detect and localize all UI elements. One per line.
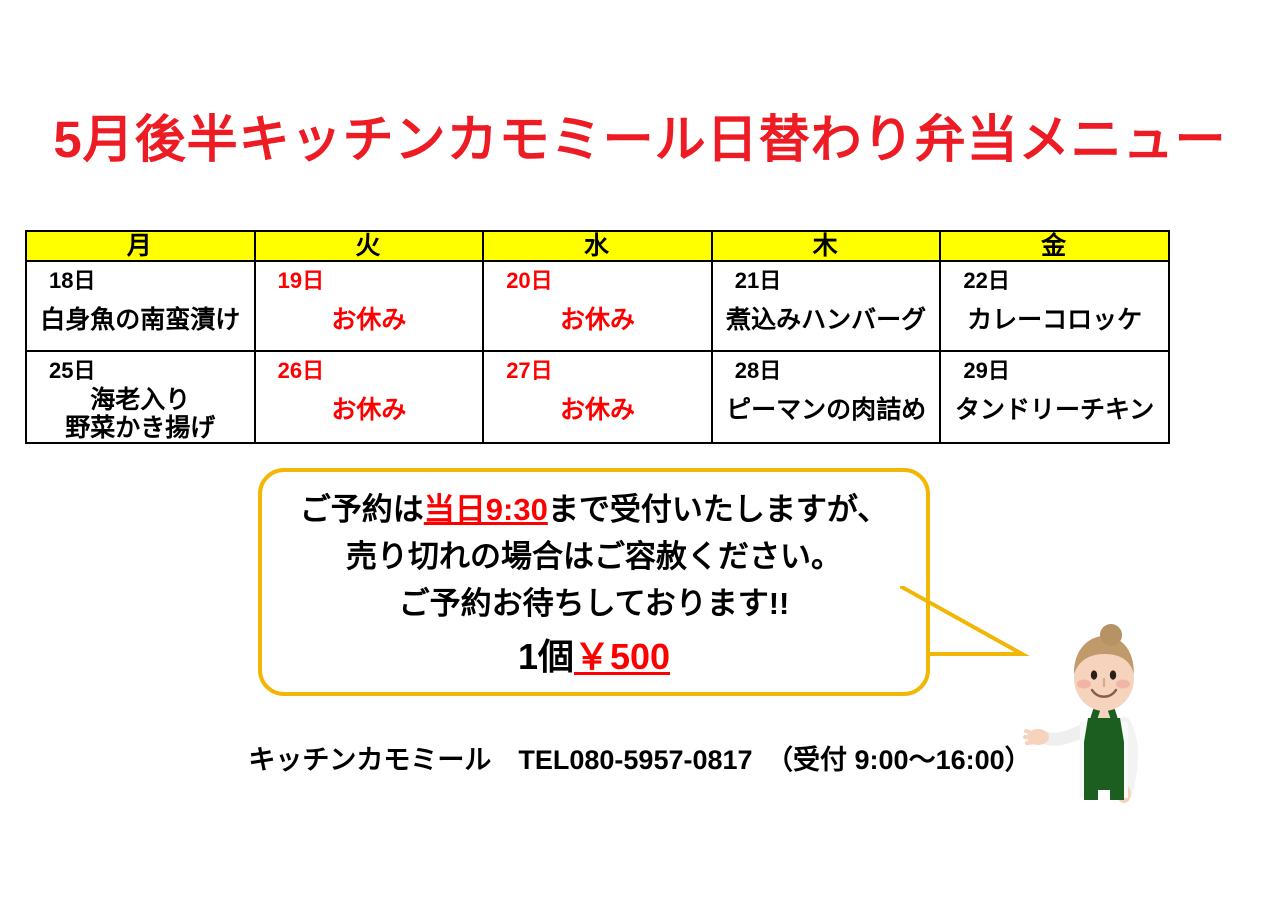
waving-staff-woman-icon — [1012, 618, 1212, 848]
day-number: 19日 — [256, 262, 483, 292]
day-number: 27日 — [484, 352, 711, 382]
dish-name: 白身魚の南蛮漬け — [27, 292, 254, 334]
column-header-thursday: 木 — [712, 231, 941, 261]
dish-name-line1: 海老入り — [27, 386, 254, 414]
price-prefix: 1個 — [518, 636, 574, 677]
day-number: 21日 — [713, 262, 940, 292]
dish-name-line2: 野菜かき揚げ — [27, 414, 254, 442]
menu-cell-29: 29日 タンドリーチキン — [940, 351, 1169, 443]
day-number: 28日 — [713, 352, 940, 382]
price-amount: ￥500 — [574, 636, 670, 677]
closed-label: お休み — [256, 292, 483, 334]
day-number: 25日 — [27, 352, 254, 382]
waving-hand — [1025, 729, 1049, 745]
closed-label: お休み — [484, 382, 711, 424]
eye-left — [1091, 670, 1097, 679]
bubble-text-block: ご予約は当日9:30まで受付いたしますが、 売り切れの場合はご容赦ください。 ご… — [262, 486, 926, 684]
closed-label: お休み — [484, 292, 711, 334]
table-header-row: 月 火 水 木 金 — [26, 231, 1169, 261]
dish-name: ピーマンの肉詰め — [713, 382, 940, 424]
menu-cell-26: 26日 お休み — [255, 351, 484, 443]
dish-name: カレーコロッケ — [941, 292, 1168, 334]
day-number: 20日 — [484, 262, 711, 292]
day-number: 29日 — [941, 352, 1168, 382]
dish-name: 煮込みハンバーグ — [713, 292, 940, 334]
dish-name: 海老入り 野菜かき揚げ — [27, 382, 254, 442]
reservation-deadline: 当日9:30 — [424, 492, 548, 527]
menu-cell-27: 27日 お休み — [483, 351, 712, 443]
eye-right — [1110, 670, 1116, 679]
closed-label: お休み — [256, 382, 483, 424]
notice-line-2: 売り切れの場合はご容赦ください。 — [262, 533, 926, 580]
menu-cell-25: 25日 海老入り 野菜かき揚げ — [26, 351, 255, 443]
menu-cell-22: 22日 カレーコロッケ — [940, 261, 1169, 351]
menu-cell-20: 20日 お休み — [483, 261, 712, 351]
column-header-monday: 月 — [26, 231, 255, 261]
price-line: 1個￥500 — [262, 631, 926, 683]
notice-line-1: ご予約は当日9:30まで受付いたしますが、 — [262, 486, 926, 533]
table-row: 18日 白身魚の南蛮漬け 19日 お休み 20日 お休み 21日 煮込みハンバー… — [26, 261, 1169, 351]
page-title: 5月後半キッチンカモミール日替わり弁当メニュー — [0, 112, 1280, 167]
day-number: 26日 — [256, 352, 483, 382]
notice-line-1-post: まで受付いたしますが、 — [548, 492, 888, 527]
column-header-wednesday: 水 — [483, 231, 712, 261]
day-number: 22日 — [941, 262, 1168, 292]
table-row: 25日 海老入り 野菜かき揚げ 26日 お休み 27日 お休み 28日 ピーマン… — [26, 351, 1169, 443]
dish-name: タンドリーチキン — [941, 382, 1168, 424]
menu-cell-28: 28日 ピーマンの肉詰め — [712, 351, 941, 443]
notice-line-3: ご予約お待ちしております!! — [262, 580, 926, 627]
menu-cell-19: 19日 お休み — [255, 261, 484, 351]
day-number: 18日 — [27, 262, 254, 292]
weekly-menu-table: 月 火 水 木 金 18日 白身魚の南蛮漬け 19日 お休み 20日 お休み 2… — [25, 230, 1170, 444]
notice-line-1-pre: ご予約は — [300, 492, 424, 527]
menu-cell-21: 21日 煮込みハンバーグ — [712, 261, 941, 351]
column-header-tuesday: 火 — [255, 231, 484, 261]
column-header-friday: 金 — [940, 231, 1169, 261]
reservation-notice-bubble: ご予約は当日9:30まで受付いたしますが、 売り切れの場合はご容赦ください。 ご… — [258, 468, 930, 696]
menu-cell-18: 18日 白身魚の南蛮漬け — [26, 261, 255, 351]
